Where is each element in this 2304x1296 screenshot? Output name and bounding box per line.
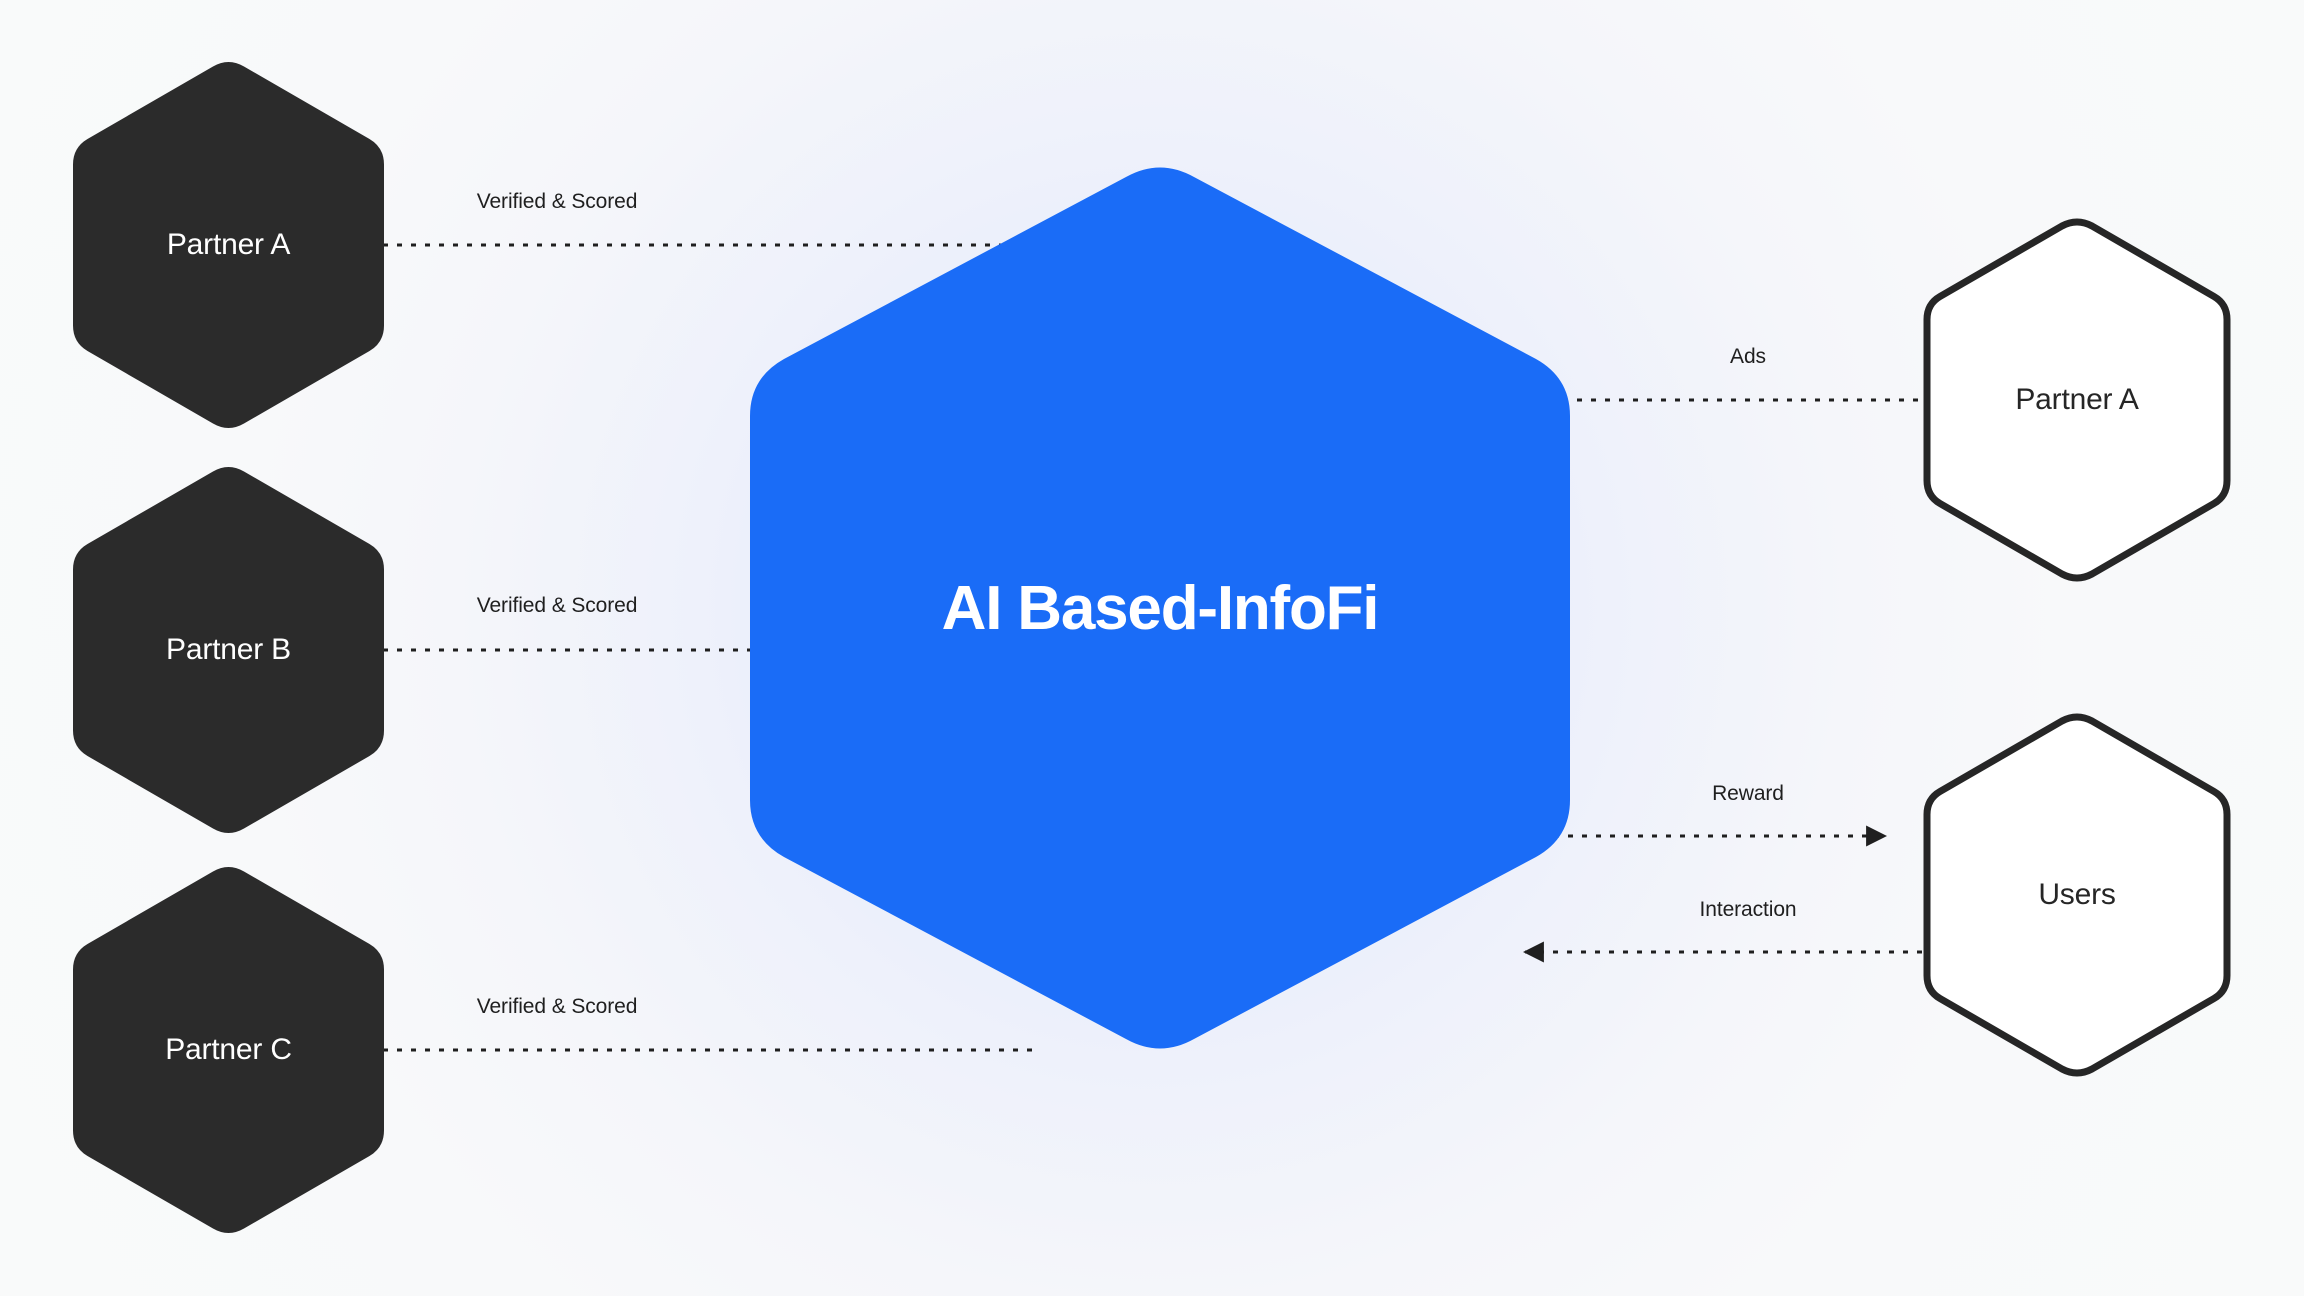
edge-label-partner-b-in: Verified & Scored	[477, 594, 638, 618]
node-partner-a-left[interactable]: Partner A	[73, 62, 384, 428]
diagram-canvas: Partner A Partner B Partner C AI Based-I…	[0, 0, 2304, 1296]
node-label: Partner A	[2015, 383, 2138, 417]
node-partner-b-left[interactable]: Partner B	[73, 467, 384, 833]
node-label: Users	[2038, 878, 2115, 912]
edge-label-ads: Ads	[1730, 345, 1766, 369]
node-users-right[interactable]: Users	[1922, 713, 2232, 1077]
edge-label-partner-a-in: Verified & Scored	[477, 190, 638, 214]
edge-label-reward: Reward	[1712, 782, 1784, 806]
node-label: Partner B	[166, 633, 291, 667]
node-label: Partner A	[167, 228, 290, 262]
node-ai-based-infofi[interactable]: AI Based-InfoFi	[750, 167, 1570, 1049]
node-label: Partner C	[165, 1033, 292, 1067]
node-partner-a-right[interactable]: Partner A	[1922, 218, 2232, 582]
edge-label-partner-c-in: Verified & Scored	[477, 995, 638, 1019]
edge-label-interaction: Interaction	[1700, 898, 1797, 922]
node-partner-c-left[interactable]: Partner C	[73, 867, 384, 1233]
node-label: AI Based-InfoFi	[942, 573, 1379, 644]
